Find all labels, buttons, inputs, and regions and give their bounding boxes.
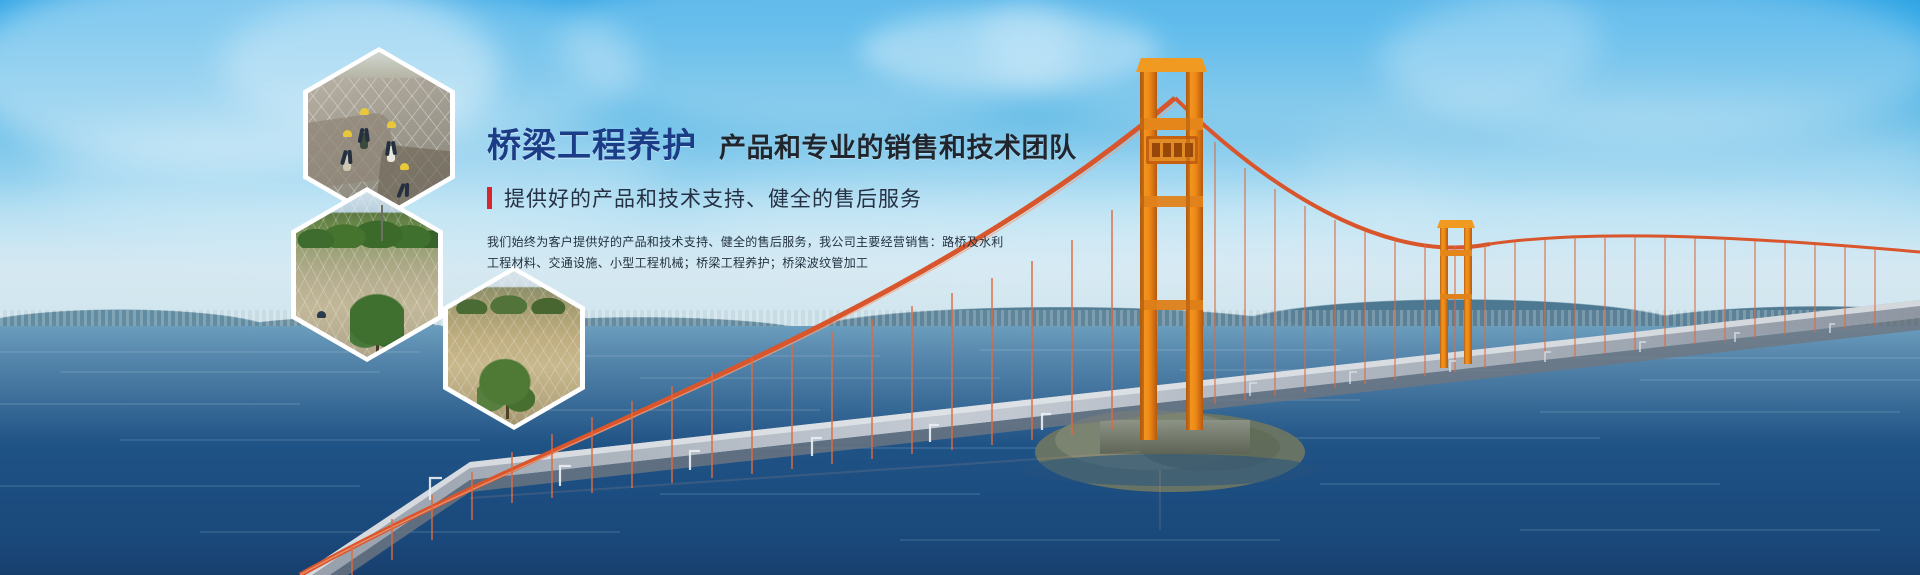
hero-banner: 桥梁工程养护 产品和专业的销售和技术团队 提供好的产品和技术支持、健全的售后服务… <box>0 0 1920 575</box>
banner-subtitle: 提供好的产品和技术支持、健全的售后服务 <box>504 183 922 213</box>
banner-body-text: 我们始终为客户提供好的产品和技术支持、健全的售后服务，我公司主要经营销售：路桥及… <box>487 232 1107 274</box>
banner-title-main: 桥梁工程养护 <box>487 118 697 167</box>
bridge-tower-far <box>1437 220 1475 368</box>
banner-title-sub: 产品和专业的销售和技术团队 <box>719 126 1077 165</box>
banner-subtitle-row: 提供好的产品和技术支持、健全的售后服务 <box>487 183 1107 213</box>
accent-bar-icon <box>487 187 492 209</box>
banner-copy: 桥梁工程养护 产品和专业的销售和技术团队 提供好的产品和技术支持、健全的售后服务… <box>487 118 1107 274</box>
banner-body-line-1: 我们始终为客户提供好的产品和技术支持、健全的售后服务，我公司主要经营销售：路桥及… <box>487 232 1107 253</box>
bridge-tower-main <box>1136 58 1207 440</box>
banner-body-line-2: 工程材料、交通设施、小型工程机械；桥梁工程养护；桥梁波纹管加工 <box>487 253 1107 274</box>
banner-title-row: 桥梁工程养护 产品和专业的销售和技术团队 <box>487 118 1107 167</box>
suspension-bridge <box>0 0 1920 575</box>
